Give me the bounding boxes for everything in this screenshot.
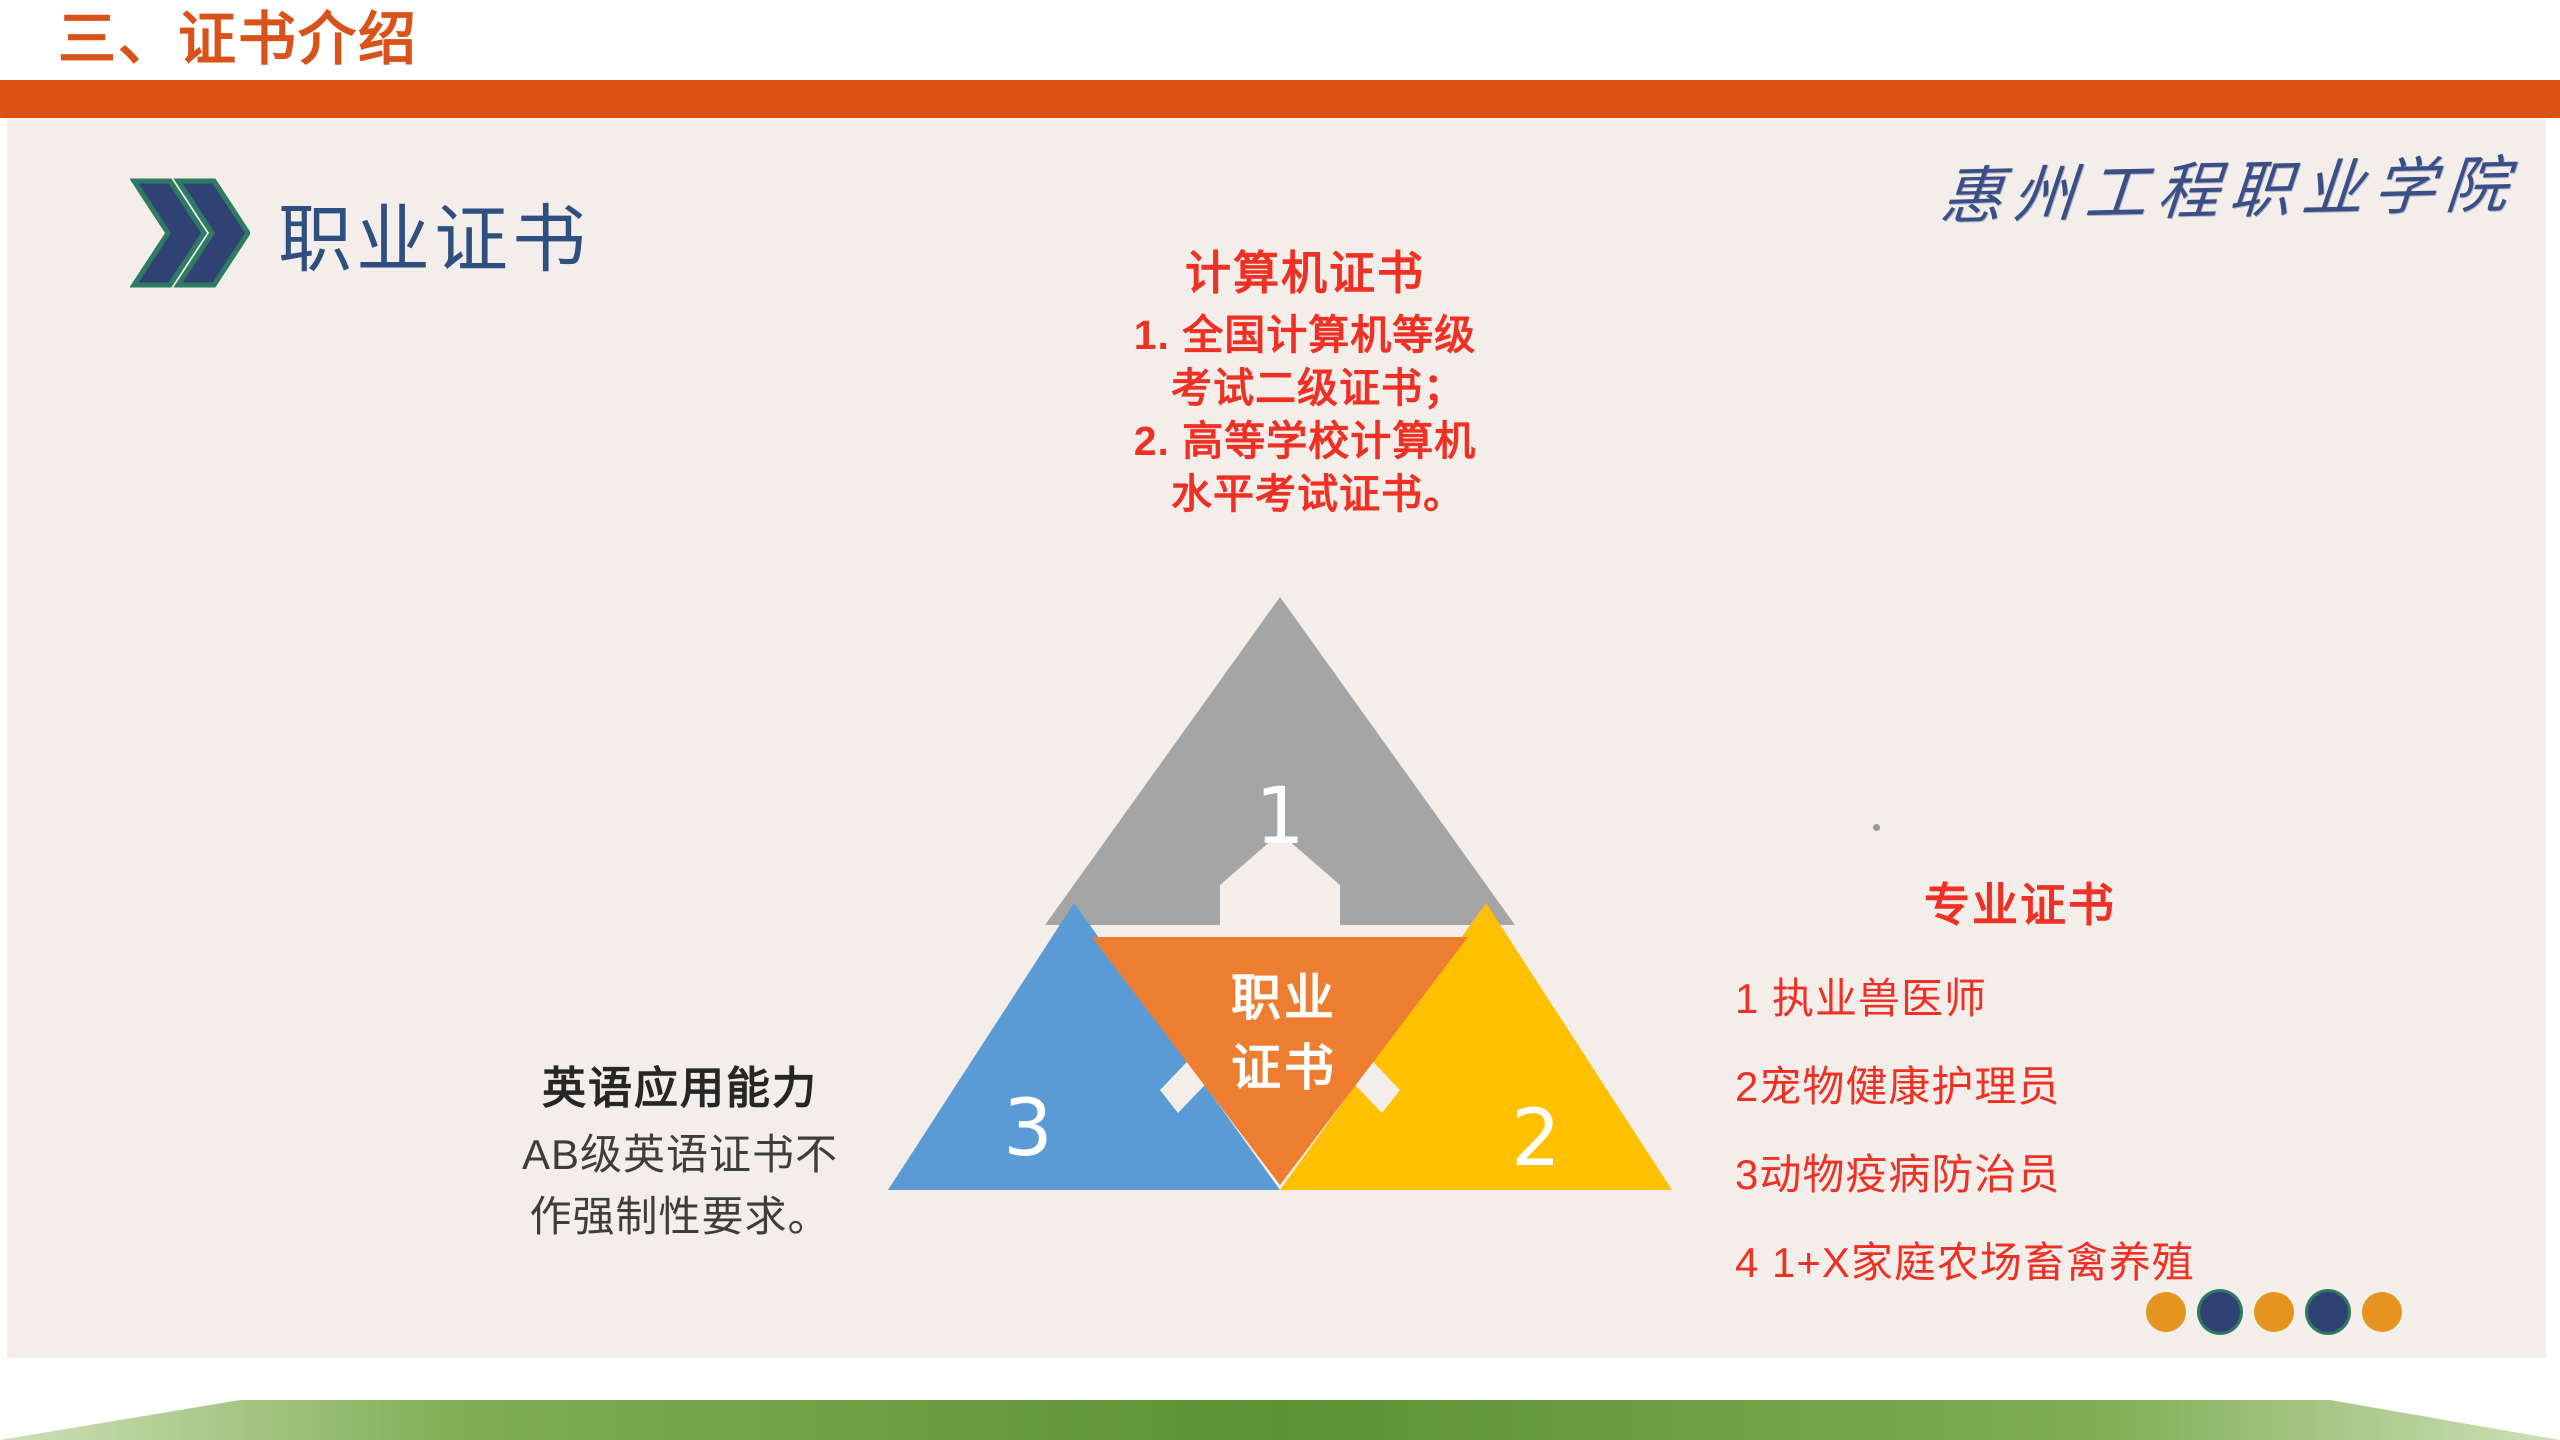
computer-block-line-4: 水平考试证书。 [1085,468,1525,521]
footer-green-band [0,1400,2560,1440]
section-title: 职业证书 [130,175,590,291]
diagram-center-label-line2: 证书 [1231,1039,1337,1097]
school-calligraphy-logo: 惠州工程职业学院 [1938,134,2523,236]
decorative-dot-5 [2362,1292,2402,1332]
stray-dot-marker [1873,824,1880,831]
computer-block-line-3: 2. 高等学校计算机 [1085,415,1525,468]
page-title: 三、证书介绍 [58,4,418,76]
decorative-dot-2 [2200,1292,2240,1332]
english-block-line-2: 作强制性要求。 [470,1186,890,1248]
english-block-title: 英语应用能力 [470,1060,890,1118]
decorative-dot-row [2146,1292,2402,1332]
header-accent-bar [0,80,2560,118]
slide-header: 三、证书介绍 [0,0,2560,118]
diagram-top-number: 1 [1255,772,1305,862]
major-block-line-1: 1 执业兽医师 [1735,955,2375,1043]
section-title-label: 职业证书 [278,180,590,287]
triangle-diagram: 1 2 3 职业 证书 [860,585,1700,1210]
diagram-right-number: 2 [1511,1094,1561,1184]
diagram-center-label-line1: 职业 [1231,969,1337,1027]
major-certificate-block: 专业证书 1 执业兽医师 2宠物健康护理员 3动物疫病防治员 4 1+X家庭农场… [1735,875,2375,1307]
diagram-left-number: 3 [1003,1084,1053,1174]
decorative-dot-3 [2254,1292,2294,1332]
computer-block-line-2: 考试二级证书； [1085,362,1525,415]
computer-block-title: 计算机证书 [1085,245,1525,301]
major-block-line-3: 3动物疫病防治员 [1735,1131,2375,1219]
computer-certificate-block: 计算机证书 1. 全国计算机等级 考试二级证书； 2. 高等学校计算机 水平考试… [1085,245,1525,521]
double-chevron-icon [130,175,250,291]
computer-block-line-1: 1. 全国计算机等级 [1085,309,1525,362]
diagram-top-triangle [1045,597,1515,925]
major-block-line-2: 2宠物健康护理员 [1735,1043,2375,1131]
english-ability-block: 英语应用能力 AB级英语证书不 作强制性要求。 [470,1060,890,1248]
english-block-line-1: AB级英语证书不 [470,1124,890,1186]
decorative-dot-4 [2308,1292,2348,1332]
major-block-title: 专业证书 [1735,875,2375,935]
decorative-dot-1 [2146,1292,2186,1332]
